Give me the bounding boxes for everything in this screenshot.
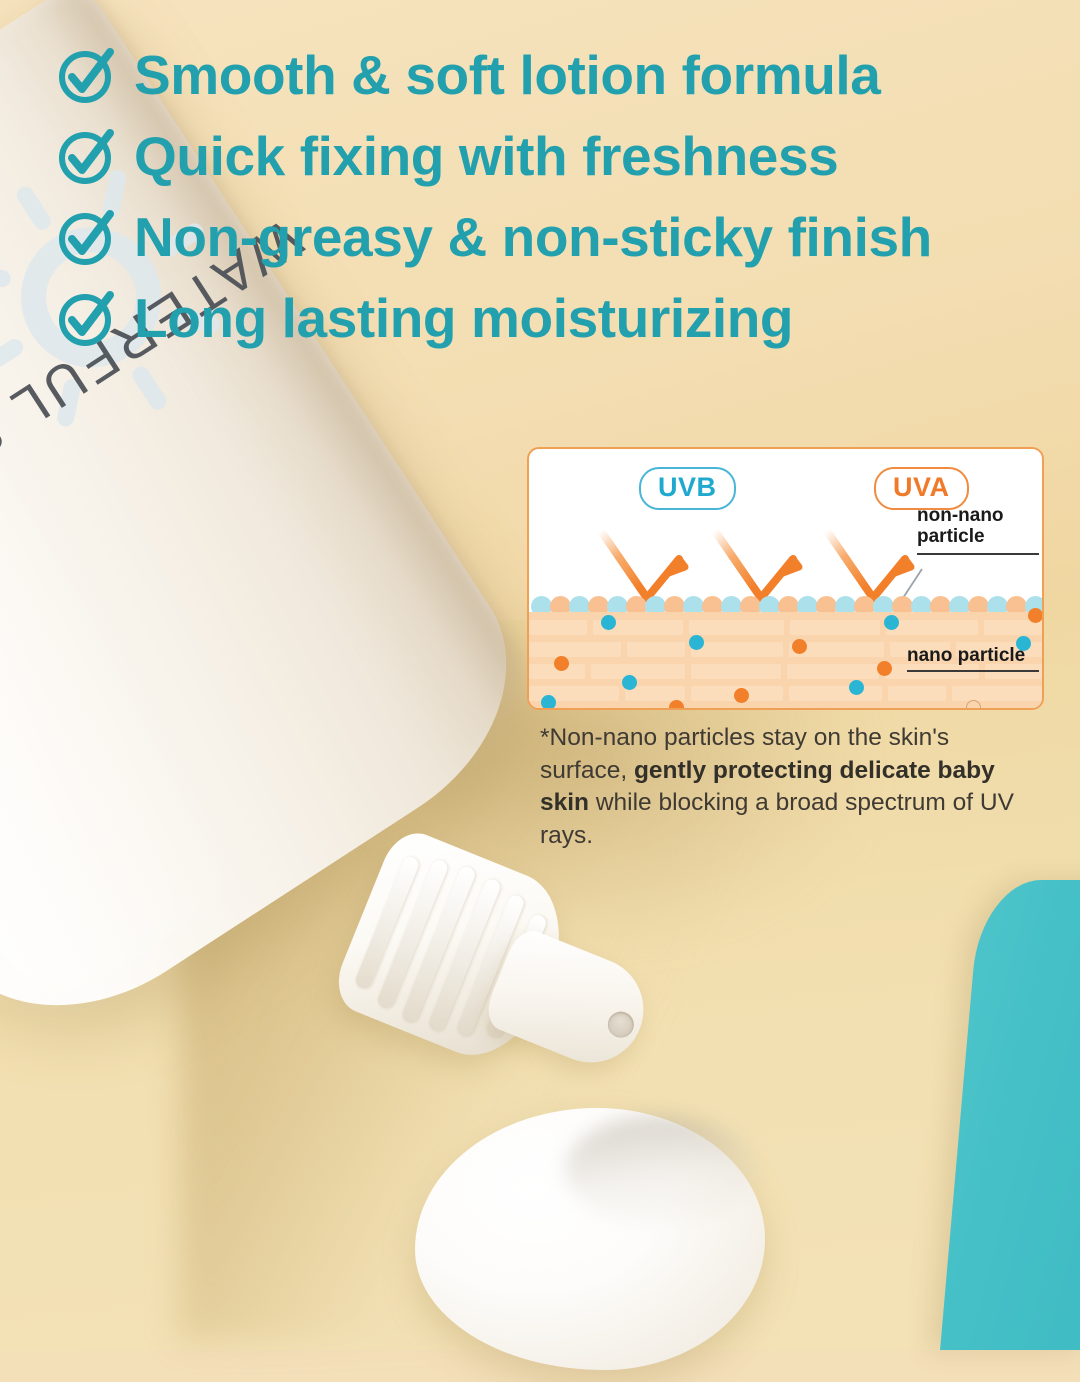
benefit-label: Long lasting moisturizing [134,289,793,347]
nano-particle [541,695,556,710]
uv-ray-arrow-icon [827,531,911,598]
nano-particle [884,615,899,630]
label-nano-particle: nano particle [907,645,1025,666]
benefit-item: Non-greasy & non-sticky finish [56,206,1056,268]
label-non-nano-particle: non-nano particle [917,505,1004,548]
nano-particle [601,615,616,630]
benefit-item: Quick fixing with freshness [56,125,1056,187]
sun-ray [14,183,54,233]
diagram-caption: *Non-nano particles stay on the skin's s… [540,722,1040,852]
benefit-label: Smooth & soft lotion formula [134,46,881,104]
benefit-label: Quick fixing with freshness [134,127,838,185]
check-circle-icon [56,287,118,349]
badge-uva: UVA [874,467,969,510]
benefit-label: Non-greasy & non-sticky finish [134,208,932,266]
nano-particle [849,680,864,695]
sun-ray [0,336,26,376]
nano-particle-outline [966,700,981,710]
sun-ray [0,262,12,289]
lotion-blob-shadow [565,1116,755,1226]
nano-particle [669,700,684,710]
nano-particle [877,661,892,676]
label-rule-non-nano [917,553,1039,555]
caption-after-bold: while [589,789,652,816]
benefits-list: Smooth & soft lotion formula Quick fixin… [56,44,1056,368]
nozzle-opening [604,1008,638,1042]
uv-protection-diagram: UVB UVA [527,447,1044,710]
label-rule-nano [907,670,1039,672]
nano-particle [734,688,749,703]
check-circle-icon [56,125,118,187]
uv-ray-arrow-icon [601,531,685,598]
benefit-item: Long lasting moisturizing [56,287,1056,349]
nano-particle [622,675,637,690]
uv-ray-arrow-icon [715,531,799,598]
check-circle-icon [56,206,118,268]
check-circle-icon [56,44,118,106]
benefit-item: Smooth & soft lotion formula [56,44,1056,106]
nano-particle [554,656,569,671]
badge-uvb: UVB [639,467,736,510]
nano-particle [792,639,807,654]
nano-particle [689,635,704,650]
nano-particle [1028,608,1043,623]
